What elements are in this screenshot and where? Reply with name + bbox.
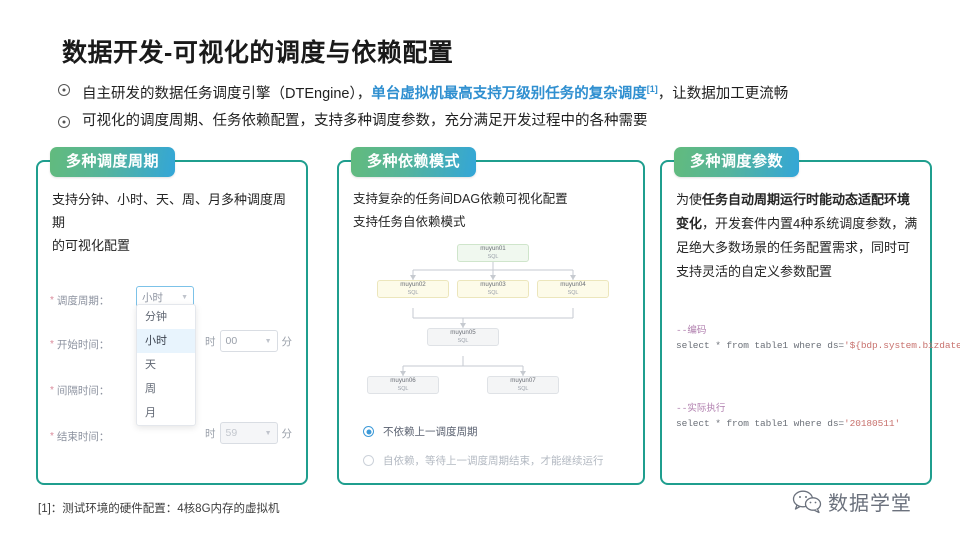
- dag-node-name: muyun01: [480, 245, 505, 253]
- dag-node-name: muyun03: [480, 281, 505, 289]
- panel-1-badge: 多种调度周期: [50, 147, 175, 177]
- list-item: 可视化的调度周期、任务依赖配置，支持多种调度参数，充分满足开发过程中的各种需要: [58, 112, 938, 131]
- dag-node-type: SQL: [488, 289, 499, 297]
- dag-node-muyun04[interactable]: muyun04 SQL: [537, 280, 609, 298]
- code-comment: --编码: [676, 322, 922, 336]
- bullet-text: 自主研发的数据任务调度引擎（DTEngine），单台虚拟机最高支持万级别任务的复…: [82, 80, 788, 104]
- dropdown-option-week[interactable]: 周: [137, 377, 195, 401]
- panel-2-description: 支持复杂的任务间DAG依赖可视化配置 支持任务自依赖模式: [353, 188, 633, 234]
- dependency-radio-group: 不依赖上一调度周期 自依赖，等待上一调度周期结束，才能继续运行: [363, 424, 604, 482]
- radio-icon-unselected[interactable]: [363, 455, 374, 466]
- panel-3-badge: 多种调度参数: [674, 147, 799, 177]
- form-row-end-time: * 结束时间：: [50, 424, 109, 448]
- panel-3-desc-c: ，开发套件内置4种系统调度参数，满足绝大多数场景的任务配置需求，同时可支持灵活的…: [676, 216, 917, 279]
- code-statement: select * from table1 where ds=: [676, 340, 844, 351]
- bullet-post: ，让数据加工更流畅: [658, 86, 789, 102]
- slide-root: 数据开发-可视化的调度与依赖配置 自主研发的数据任务调度引擎（DTEngine）…: [0, 0, 960, 540]
- code-statement: select * from table1 where ds=: [676, 418, 844, 429]
- dag-node-muyun06[interactable]: muyun06 SQL: [367, 376, 439, 394]
- radio-label: 不依赖上一调度周期: [383, 424, 478, 439]
- panel-2-badge: 多种依赖模式: [351, 147, 476, 177]
- radio-self-dependency[interactable]: 自依赖，等待上一调度周期结束，才能继续运行: [363, 453, 604, 468]
- form-label-cycle: 调度周期：: [57, 293, 110, 308]
- panel-1-desc-line-1: 支持分钟、小时、天、周、月多种调度周期: [52, 188, 296, 234]
- form-label-start-time: 开始时间：: [57, 337, 110, 352]
- panel-1-description: 支持分钟、小时、天、周、月多种调度周期 的可视化配置: [52, 188, 296, 257]
- bullet-highlight-text: 单台虚拟机最高支持万级别任务的复杂调度: [371, 86, 647, 102]
- panel-schedule-cycle: 多种调度周期 支持分钟、小时、天、周、月多种调度周期 的可视化配置 * 调度周期…: [36, 160, 308, 485]
- form-row-interval: * 间隔时间：: [50, 378, 109, 402]
- dag-graph: muyun01 SQL muyun02 SQL muyun03 SQL muyu…: [345, 236, 641, 416]
- end-time-controls: 时 59 ▼ 分: [201, 422, 296, 444]
- dag-node-muyun05[interactable]: muyun05 SQL: [427, 328, 499, 346]
- dropdown-option-month[interactable]: 月: [137, 401, 195, 425]
- code-block-actual-run: --实际执行 select * from table1 where ds='20…: [676, 400, 922, 429]
- end-minute-value: 59: [226, 427, 238, 439]
- radio-no-self-dependency[interactable]: 不依赖上一调度周期: [363, 424, 604, 439]
- code-line: select * from table1 where ds='20180511': [676, 418, 922, 429]
- dag-node-muyun07[interactable]: muyun07 SQL: [487, 376, 559, 394]
- dag-node-name: muyun02: [400, 281, 425, 289]
- dag-node-type: SQL: [458, 337, 469, 345]
- dropdown-option-minute[interactable]: 分钟: [137, 305, 195, 329]
- bullet-text: 可视化的调度周期、任务依赖配置，支持多种调度参数，充分满足开发过程中的各种需要: [82, 112, 648, 131]
- form-label-end-time: 结束时间：: [57, 429, 110, 444]
- chevron-down-icon: ▼: [265, 430, 272, 437]
- dag-node-muyun02[interactable]: muyun02 SQL: [377, 280, 449, 298]
- start-time-controls: 时 00 ▼ 分: [201, 330, 296, 352]
- dag-node-name: muyun06: [390, 377, 415, 385]
- code-block-encoding: --编码 select * from table1 where ds='${bd…: [676, 322, 922, 351]
- bullet-dot-icon: [58, 84, 70, 96]
- panel-2-desc-line-1: 支持复杂的任务间DAG依赖可视化配置: [353, 188, 633, 211]
- required-asterisk: *: [50, 339, 54, 350]
- code-comment: --实际执行: [676, 400, 922, 414]
- code-string-literal: '20180511': [844, 418, 900, 429]
- bullet-highlight: 单台虚拟机最高支持万级别任务的复杂调度[1]: [371, 86, 658, 102]
- wechat-icon: [792, 489, 822, 515]
- dag-node-type: SQL: [518, 385, 529, 393]
- list-item: 自主研发的数据任务调度引擎（DTEngine），单台虚拟机最高支持万级别任务的复…: [58, 80, 938, 104]
- end-hour-suffix: 时: [205, 426, 216, 441]
- schedule-form: * 调度周期： 小时 ▼ 分钟 小时 天 周 月 * 开始时间： 时: [46, 282, 300, 475]
- radio-label: 自依赖，等待上一调度周期结束，才能继续运行: [383, 453, 604, 468]
- dag-node-name: muyun05: [450, 329, 475, 337]
- panel-3-desc-a: 为使: [676, 192, 702, 207]
- form-label-interval: 间隔时间：: [57, 383, 110, 398]
- dropdown-option-hour[interactable]: 小时: [137, 329, 195, 353]
- required-asterisk: *: [50, 385, 54, 396]
- cycle-dropdown-menu[interactable]: 分钟 小时 天 周 月: [136, 304, 196, 426]
- start-minute-suffix: 分: [282, 334, 293, 349]
- start-minute-value: 00: [226, 335, 238, 347]
- watermark: 数据学堂: [792, 487, 912, 516]
- dag-node-muyun01[interactable]: muyun01 SQL: [457, 244, 529, 262]
- panel-3-description: 为使任务自动周期运行时能动态适配环境变化，开发套件内置4种系统调度参数，满足绝大…: [676, 188, 920, 284]
- watermark-text: 数据学堂: [828, 487, 912, 516]
- panel-dependency-mode: 多种依赖模式 支持复杂的任务间DAG依赖可视化配置 支持任务自依赖模式: [337, 160, 645, 485]
- code-string-literal: '${bdp.system.bizdate}': [844, 340, 960, 351]
- required-asterisk: *: [50, 295, 54, 306]
- dag-node-name: muyun07: [510, 377, 535, 385]
- page-title: 数据开发-可视化的调度与依赖配置: [62, 33, 453, 69]
- form-row-cycle: * 调度周期：: [50, 288, 109, 312]
- start-hour-suffix: 时: [205, 334, 216, 349]
- dropdown-option-day[interactable]: 天: [137, 353, 195, 377]
- bullet-dot-icon: [58, 116, 70, 128]
- bullet-list: 自主研发的数据任务调度引擎（DTEngine），单台虚拟机最高支持万级别任务的复…: [58, 80, 938, 139]
- end-minute-select[interactable]: 59 ▼: [220, 422, 278, 444]
- bullet-pre: 自主研发的数据任务调度引擎（DTEngine），: [82, 86, 371, 102]
- required-asterisk: *: [50, 431, 54, 442]
- footnote-ref: [1]: [647, 84, 658, 94]
- cycle-select-value: 小时: [142, 290, 163, 305]
- panel-2-desc-line-2: 支持任务自依赖模式: [353, 211, 633, 234]
- end-minute-suffix: 分: [282, 426, 293, 441]
- start-minute-select[interactable]: 00 ▼: [220, 330, 278, 352]
- chevron-down-icon: ▼: [181, 294, 188, 301]
- dag-node-type: SQL: [568, 289, 579, 297]
- dag-node-name: muyun04: [560, 281, 585, 289]
- dag-node-muyun03[interactable]: muyun03 SQL: [457, 280, 529, 298]
- dag-node-type: SQL: [488, 253, 499, 261]
- dag-node-type: SQL: [398, 385, 409, 393]
- form-row-start-time: * 开始时间：: [50, 332, 109, 356]
- chevron-down-icon: ▼: [265, 338, 272, 345]
- code-line: select * from table1 where ds='${bdp.sys…: [676, 340, 922, 351]
- radio-icon-selected[interactable]: [363, 426, 374, 437]
- panel-1-desc-line-2: 的可视化配置: [52, 234, 296, 257]
- dag-node-type: SQL: [408, 289, 419, 297]
- panel-schedule-params: 多种调度参数 为使任务自动周期运行时能动态适配环境变化，开发套件内置4种系统调度…: [660, 160, 932, 485]
- footnote: [1]：测试环境的硬件配置：4核8G内存的虚拟机: [38, 500, 280, 516]
